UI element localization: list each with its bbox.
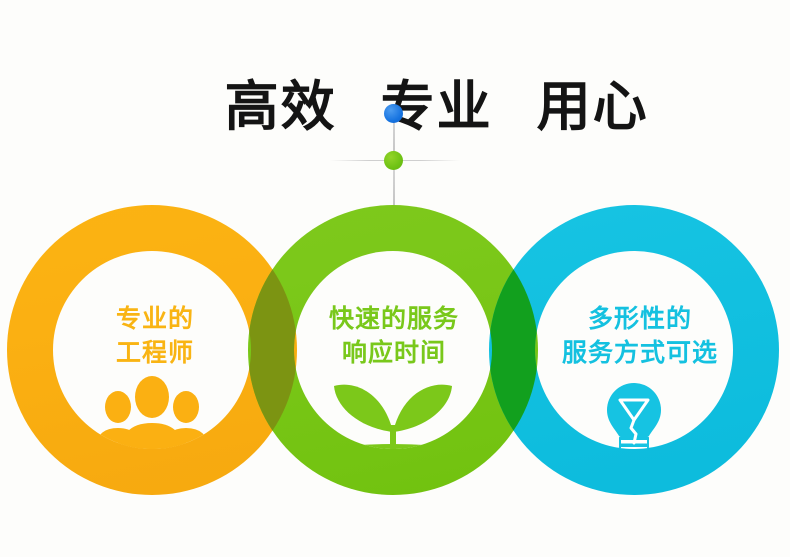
- infographic-canvas: 高效专业用心: [0, 0, 790, 557]
- overlap-green-cyan: [0, 0, 790, 557]
- venn-rings-graphic: [0, 0, 790, 557]
